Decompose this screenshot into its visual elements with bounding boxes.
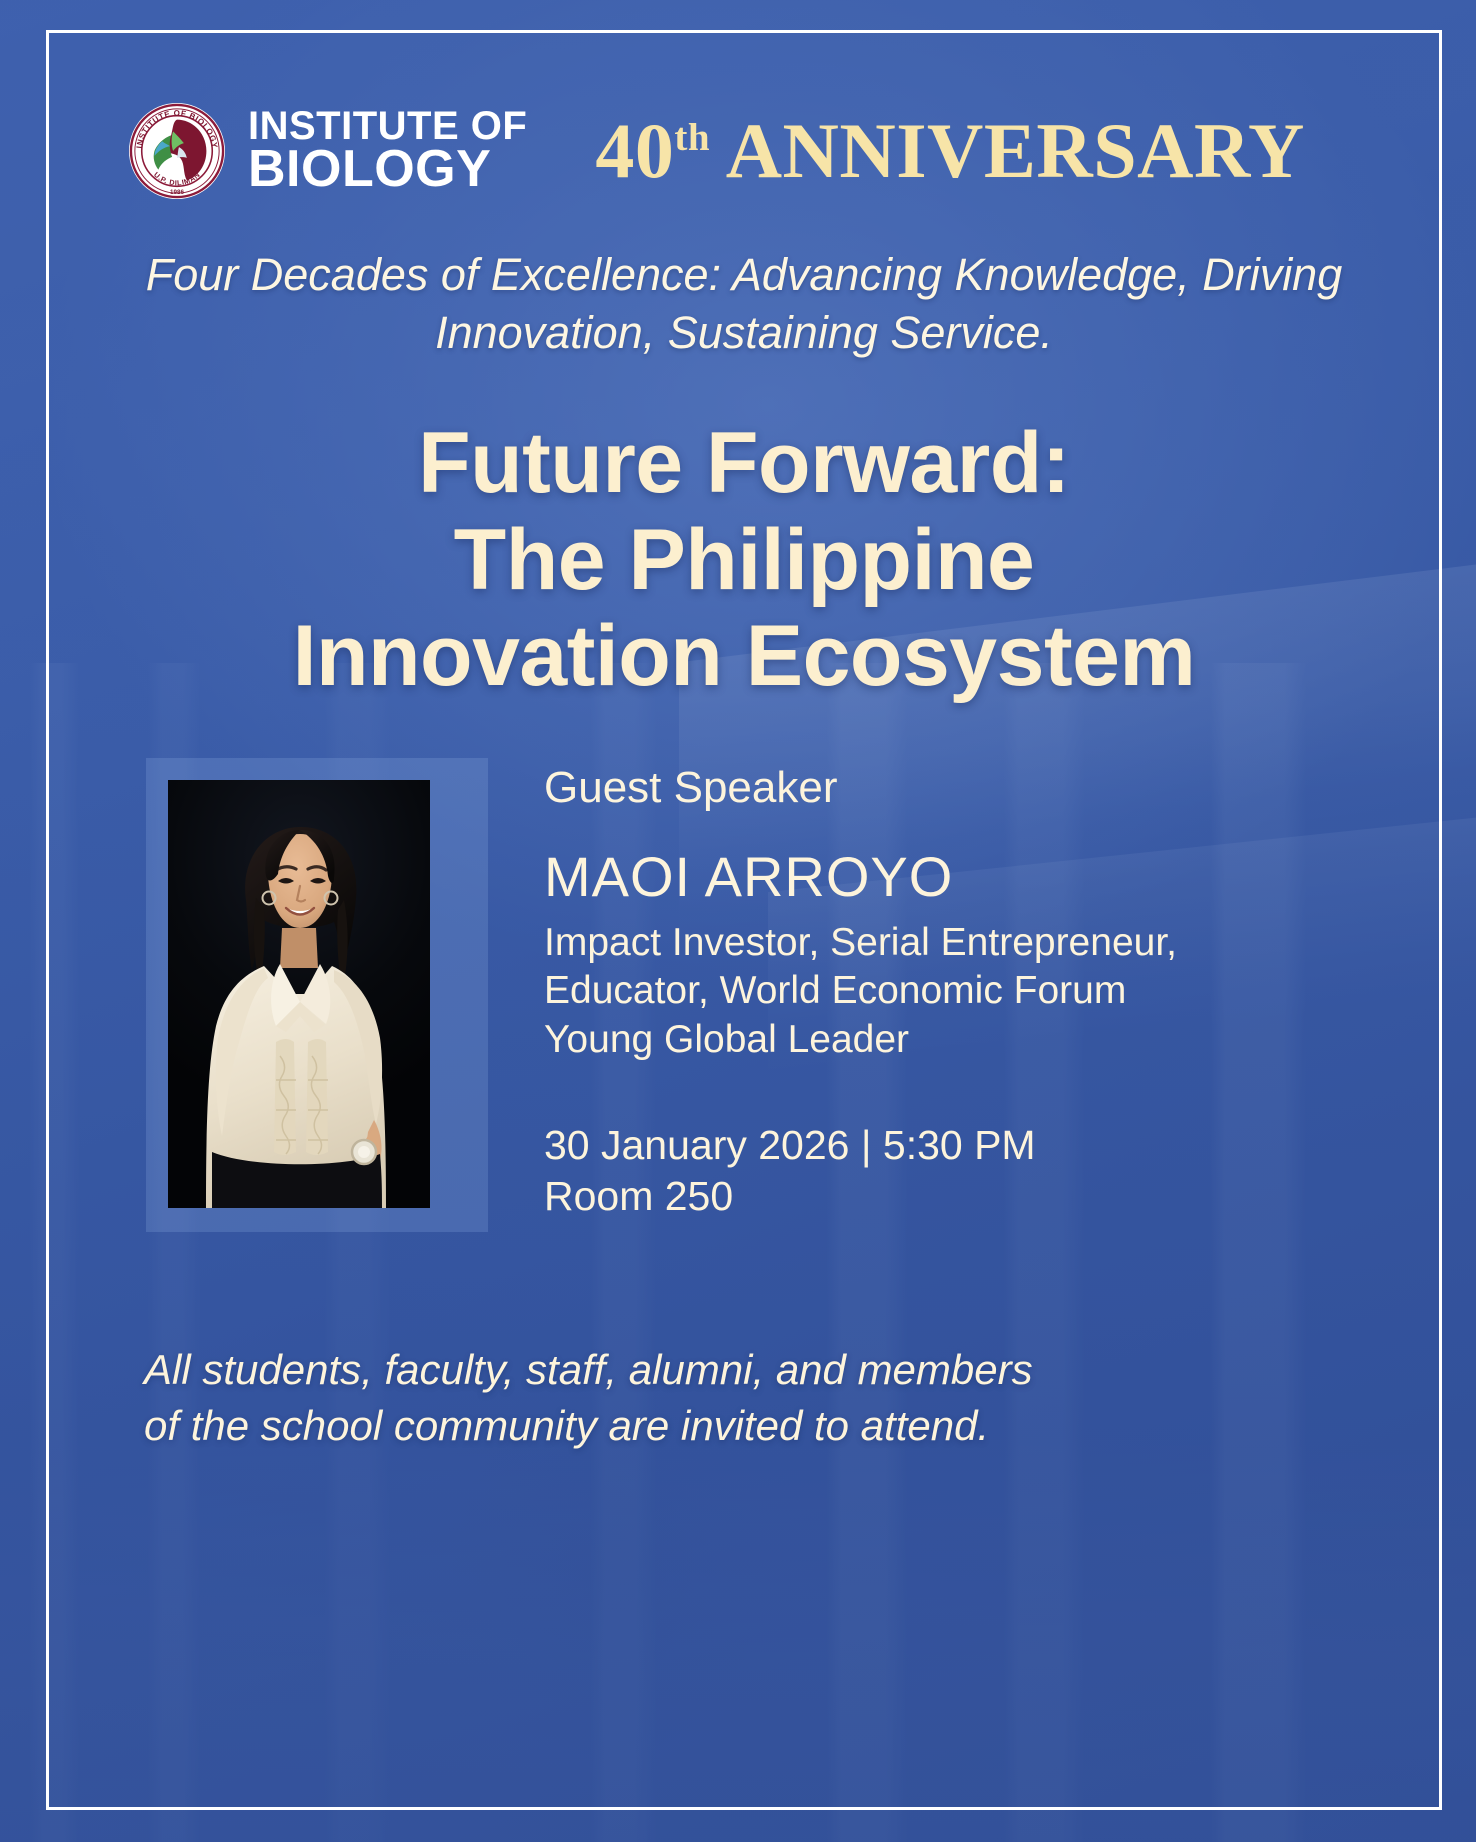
- anniversary-heading: 40th ANNIVERSARY: [595, 112, 1305, 190]
- event-venue: Room 250: [544, 1171, 1442, 1222]
- speaker-name: MAOI ARROYO: [544, 847, 1442, 907]
- event-title-line-1: Future Forward:: [86, 415, 1402, 511]
- tagline: Four Decades of Excellence: Advancing Kn…: [46, 246, 1442, 361]
- guest-speaker-label: Guest Speaker: [544, 764, 1442, 812]
- invitation-line-1: All students, faculty, staff, alumni, an…: [144, 1342, 1382, 1398]
- anniversary-word: ANNIVERSARY: [726, 107, 1305, 194]
- institute-of-biology-seal-icon: INSTITUTE OF BIOLOGY U.P. DILIMAN 1986: [128, 102, 226, 200]
- event-title: Future Forward: The Philippine Innovatio…: [46, 415, 1442, 704]
- speaker-section: Guest Speaker MAOI ARROYO Impact Investo…: [46, 758, 1442, 1232]
- anniversary-suffix: th: [674, 116, 710, 159]
- poster-header: INSTITUTE OF BIOLOGY U.P. DILIMAN 1986 I…: [46, 30, 1442, 200]
- event-title-line-3: Innovation Ecosystem: [86, 608, 1402, 704]
- speaker-portrait: [168, 780, 430, 1208]
- tagline-line-1: Four Decades of Excellence: Advancing: [146, 249, 942, 300]
- event-datetime: 30 January 2026 | 5:30 PM: [544, 1120, 1442, 1171]
- speaker-details: Guest Speaker MAOI ARROYO Impact Investo…: [544, 758, 1442, 1222]
- svg-text:1986: 1986: [170, 189, 184, 196]
- speaker-credentials-line-1: Impact Investor, Serial Entrepreneur,: [544, 919, 1442, 967]
- org-line-2: BIOLOGY: [248, 145, 527, 193]
- invitation-note: All students, faculty, staff, alumni, an…: [46, 1342, 1442, 1455]
- institute-wordmark: INSTITUTE OF BIOLOGY: [248, 108, 527, 194]
- speaker-photo-frame: [146, 758, 488, 1232]
- invitation-line-2: of the school community are invited to a…: [144, 1398, 1382, 1454]
- event-title-line-2: The Philippine: [86, 512, 1402, 608]
- speaker-credentials-line-3: Young Global Leader: [544, 1016, 1442, 1064]
- event-logistics: 30 January 2026 | 5:30 PM Room 250: [544, 1120, 1442, 1223]
- anniversary-number: 40: [595, 107, 674, 194]
- poster-content: INSTITUTE OF BIOLOGY U.P. DILIMAN 1986 I…: [46, 30, 1442, 1810]
- speaker-credentials: Impact Investor, Serial Entrepreneur, Ed…: [544, 919, 1442, 1064]
- speaker-credentials-line-2: Educator, World Economic Forum: [544, 967, 1442, 1015]
- event-poster: INSTITUTE OF BIOLOGY U.P. DILIMAN 1986 I…: [0, 0, 1476, 1842]
